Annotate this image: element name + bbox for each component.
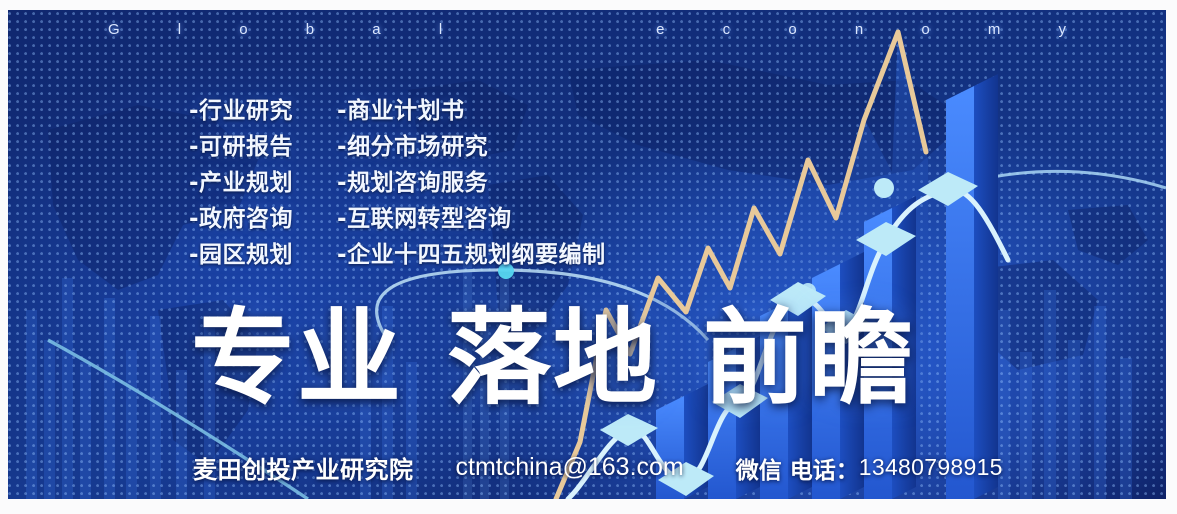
service-item: -规划咨询服务: [337, 168, 606, 198]
headline-word-3: 前瞻: [703, 306, 915, 410]
service-item: -细分市场研究: [337, 132, 606, 162]
headline-slogan: 专业 落地 前瞻: [191, 306, 915, 410]
service-item: -商业计划书: [337, 96, 606, 126]
service-item: -互联网转型咨询: [337, 204, 606, 234]
top-word-track: G l o b a l e c o n o m y: [8, 12, 1166, 46]
contact-email[interactable]: ctmtchina@163.com: [456, 453, 684, 482]
organization-name: 麦田创投产业研究院: [193, 450, 414, 485]
service-list-left: -行业研究 -可研报告 -产业规划 -政府咨询 -园区规划: [189, 96, 293, 270]
contact-phone[interactable]: 13480798915: [859, 454, 1003, 481]
promo-banner: G l o b a l e c o n o m y -行业研究 -可研报告 -产…: [8, 10, 1166, 499]
headline-word-2: 落地: [447, 306, 659, 410]
service-list-right: -商业计划书 -细分市场研究 -规划咨询服务 -互联网转型咨询 -企业十四五规划…: [337, 96, 606, 270]
wechat-phone-label: 微信 电话：: [736, 451, 859, 485]
service-item: -企业十四五规划纲要编制: [337, 240, 606, 270]
service-item: -可研报告: [189, 132, 293, 162]
service-item: -行业研究: [189, 96, 293, 126]
service-item: -园区规划: [189, 240, 293, 270]
service-item: -政府咨询: [189, 204, 293, 234]
service-item: -产业规划: [189, 168, 293, 198]
contact-footer: 麦田创投产业研究院 ctmtchina@163.com 微信 电话： 13480…: [193, 450, 1003, 485]
headline-word-1: 专业: [191, 306, 403, 410]
service-lists: -行业研究 -可研报告 -产业规划 -政府咨询 -园区规划 -商业计划书 -细分…: [189, 96, 606, 270]
page-root: G l o b a l e c o n o m y -行业研究 -可研报告 -产…: [0, 0, 1177, 514]
